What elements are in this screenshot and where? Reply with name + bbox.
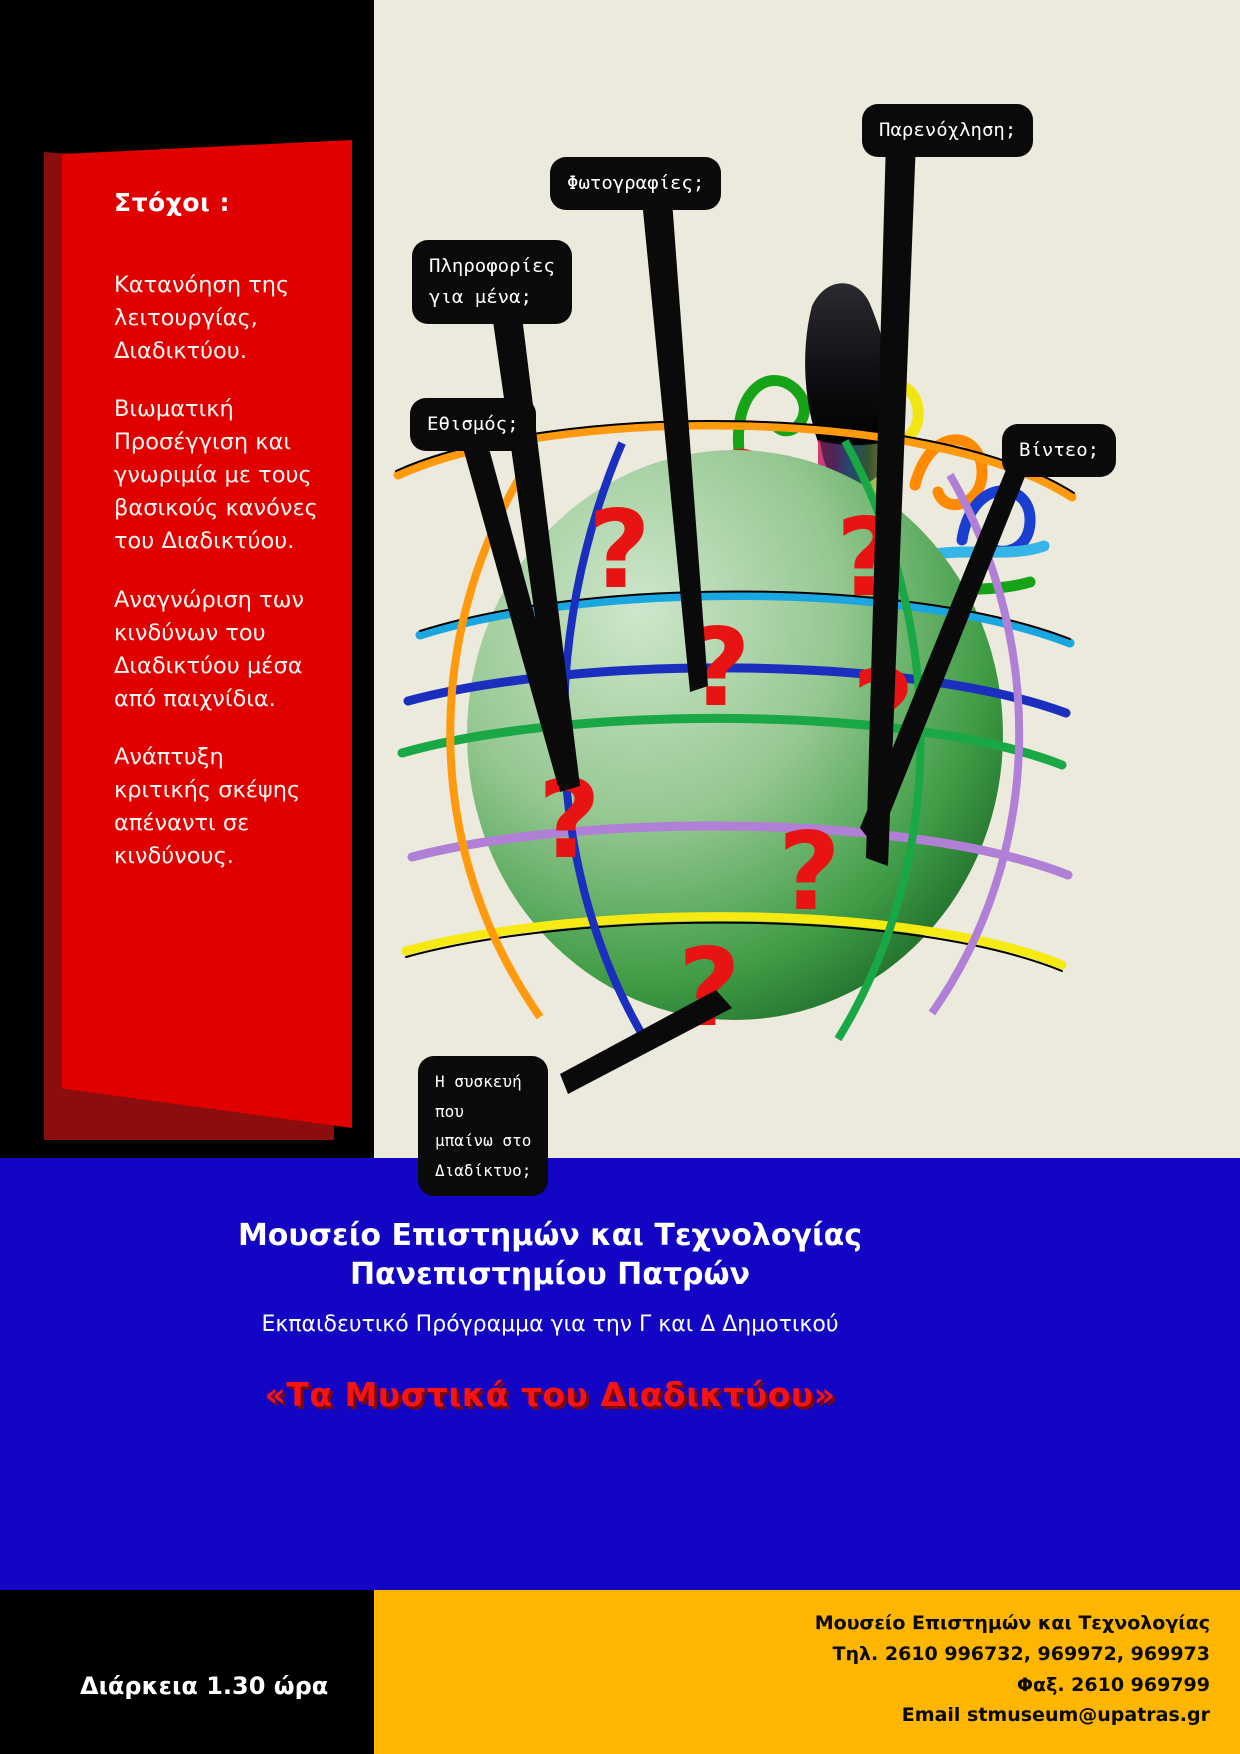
- contact-fax: Φαξ. 2610 969799: [374, 1670, 1240, 1701]
- callout-harassment-bubble: Παρενόχληση;: [862, 104, 1033, 157]
- organisation-name-line1: Μουσείο Επιστημών και Τεχνολογίας: [0, 1216, 1100, 1255]
- contact-phone: Τηλ. 2610 996732, 969972, 969973: [374, 1639, 1240, 1670]
- poster-root: Στόχοι : Κατανόηση της λειτουργίας, Διαδ…: [0, 0, 1240, 1754]
- programme-title: «Τα Μυστικά του Διαδικτύου»: [0, 1375, 1100, 1414]
- duration-block: Διάρκεια 1.30 ώρα: [0, 1590, 374, 1754]
- contact-name: Μουσείο Επιστημών και Τεχνολογίας: [374, 1590, 1240, 1639]
- callout-photos-bubble: Φωτογραφίες;: [550, 157, 721, 210]
- objective-item-2: Βιωματική Προσέγγιση και γνωριμία με του…: [114, 393, 326, 558]
- callout-device-bubble: Η συσκευή που μπαίνω στο Διαδίκτυο;: [418, 1056, 548, 1196]
- duration-text: Διάρκεια 1.30 ώρα: [80, 1672, 328, 1700]
- organisation-name-line2: Πανεπιστημίου Πατρών: [0, 1255, 1100, 1294]
- callout-video-bubble: Βίντεο;: [1002, 424, 1116, 477]
- callout-addiction-bubble: Εθισμός;: [410, 398, 536, 451]
- contact-email[interactable]: Email stmuseum@upatras.gr: [374, 1700, 1240, 1731]
- contact-box: Μουσείο Επιστημών και Τεχνολογίας Τηλ. 2…: [374, 1590, 1240, 1754]
- objectives-panel: Στόχοι : Κατανόηση της λειτουργίας, Διαδ…: [62, 140, 352, 1128]
- footer-blue-band: Μουσείο Επιστημών και Τεχνολογίας Πανεπι…: [0, 1158, 1240, 1590]
- programme-subtitle: Εκπαιδευτικό Πρόγραμμα για την Γ και Δ Δ…: [0, 1312, 1100, 1337]
- objective-item-3: Αναγνώριση των κινδύνων του Διαδικτύου μ…: [114, 584, 326, 716]
- objectives-heading: Στόχοι :: [114, 188, 326, 217]
- callout-information-bubble: Πληροφορίες για μένα;: [412, 240, 572, 324]
- objective-item-4: Ανάπτυξη κριτικής σκέψης απέναντι σε κιν…: [114, 741, 326, 873]
- objective-item-1: Κατανόηση της λειτουργίας, Διαδικτύου.: [114, 269, 326, 368]
